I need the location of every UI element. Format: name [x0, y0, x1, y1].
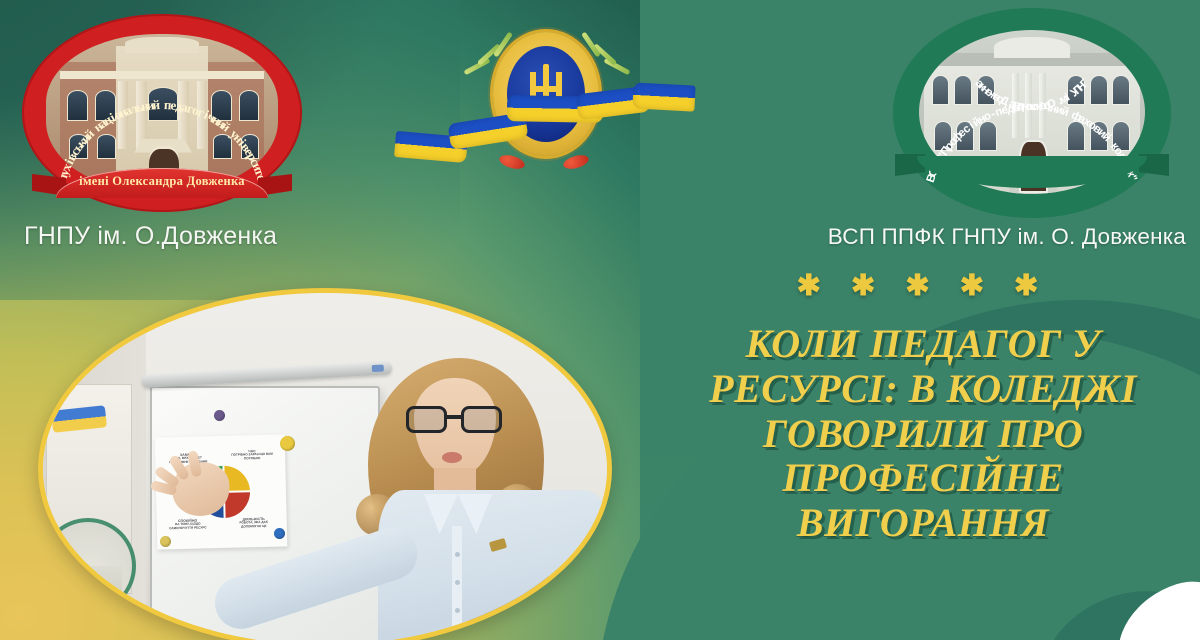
pie-label-bottom-left: СПОКІЙНО НА ТОМУ, ЩОДО САМОПОЧУТТЯ РЕСУР… [165, 518, 211, 531]
hnpu-university-crest: Глухівський національний педагогічний ун… [22, 14, 302, 212]
college-logo-watermark [40, 518, 136, 614]
berry-left [498, 153, 526, 172]
magnet [274, 528, 285, 539]
magnet [160, 536, 171, 547]
page-title: КОЛИ ПЕДАГОГ У РЕСУРСІ: В КОЛЕДЖІ ГОВОРИ… [656, 322, 1190, 546]
classroom-background: ЗАМІСТЬ ТАК, ВИХОДУ НЕТ ПОЗИТИВНЕ МИСЛЕН… [38, 288, 612, 640]
ukraine-coat-of-arms [395, 18, 695, 193]
glasses-icon [406, 406, 502, 434]
caption-university: ГНПУ ім. О.Довженка [24, 222, 277, 251]
crest-ribbon: імені Олександра Довженка [32, 162, 292, 206]
magnet [280, 436, 295, 451]
flag-ribbon-segment [632, 82, 695, 111]
mouth [442, 452, 462, 463]
headline-line: РЕСУРСІ: В КОЛЕДЖІ [656, 367, 1190, 412]
star-divider: ✱ ✱ ✱ ✱ ✱ [660, 272, 1186, 301]
poster-canvas: Глухівський національний педагогічний ун… [0, 0, 1200, 640]
caption-college: ВСП ППФК ГНПУ ім. О. Довженка [828, 224, 1186, 250]
magnet [214, 410, 225, 421]
headline-line: ГОВОРИЛИ ПРО [656, 412, 1190, 457]
crest-ring-text-lower: ГНПУ ім. Олександра Довженка [893, 8, 1171, 218]
pie-label-bottom-right: ДІЯЛЬНІСТЬ РОБОТА, ЯКА ДАЄ ДОПОМОГАЄ ЦЕ [231, 517, 277, 530]
crest-ribbon-text: імені Олександра Довженка [32, 174, 292, 189]
ppfk-college-crest: ВСП "Професійно-педагогічний фаховий кол… [893, 8, 1171, 218]
presenter-photo: ЗАМІСТЬ ТАК, ВИХОДУ НЕТ ПОЗИТИВНЕ МИСЛЕН… [38, 288, 612, 640]
pie-label-top-right: ЧАС ПОТРІБНО ЗАРАЗ ЩО ВАМ ПОТРІБНО [229, 449, 275, 462]
headline-line: ВИГОРАННЯ [656, 501, 1190, 546]
presenter-figure [338, 344, 612, 640]
headline-line: КОЛИ ПЕДАГОГ У [656, 322, 1190, 367]
headline-line: ПРОФЕСІЙНЕ [656, 456, 1190, 501]
berry-right [562, 153, 590, 172]
